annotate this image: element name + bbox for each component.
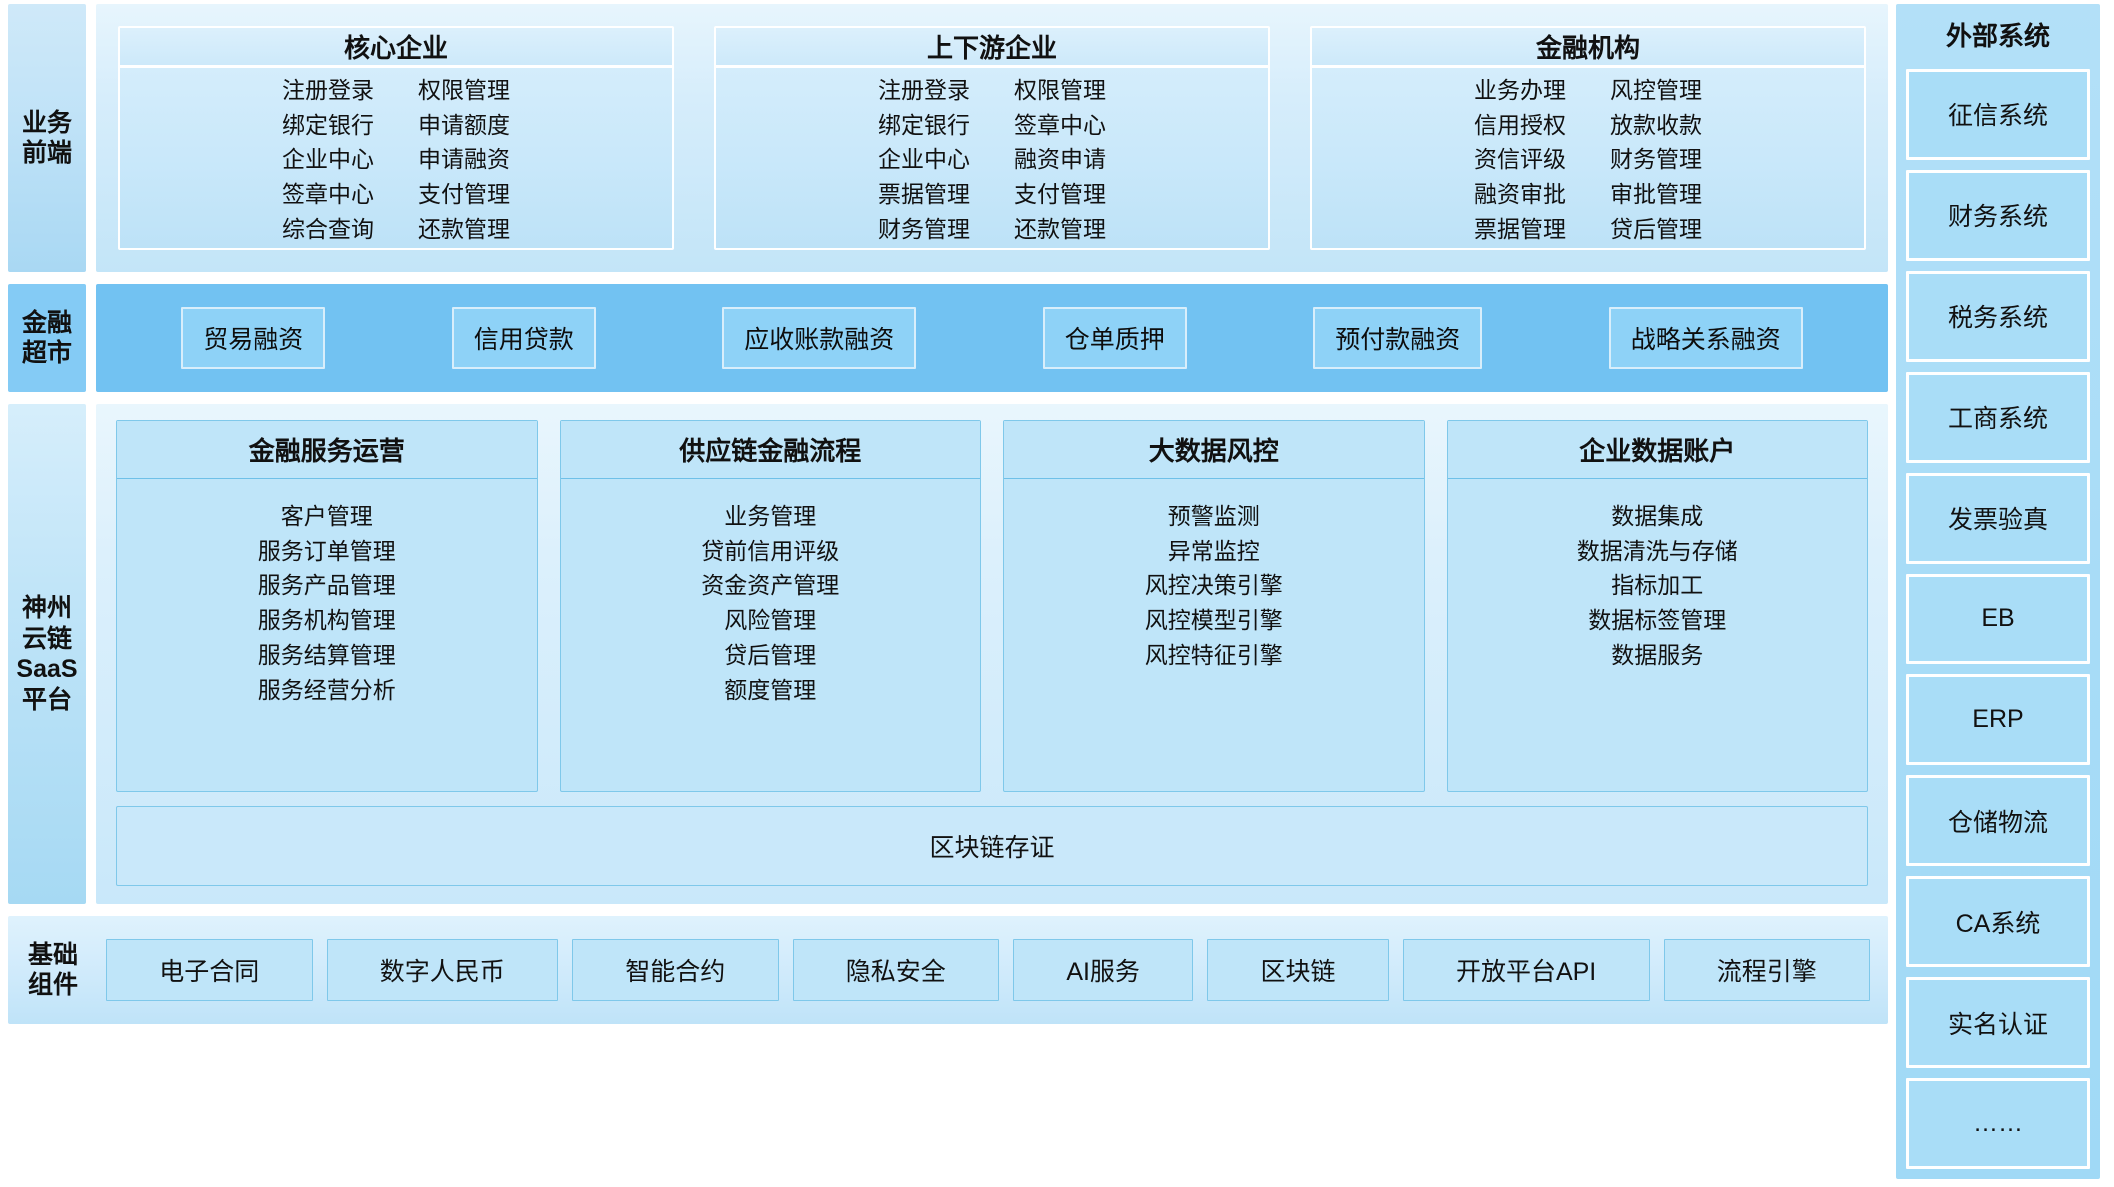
row-label-financial-marketplace: 金融 超市 — [8, 284, 86, 392]
feature-item[interactable]: 数据标签管理 — [1588, 605, 1726, 637]
card-body: 数据集成 数据清洗与存储 指标加工 数据标签管理 数据服务 — [1448, 479, 1868, 791]
feature-item[interactable]: 资金资产管理 — [701, 570, 839, 602]
feature-item[interactable]: 还款管理 — [418, 213, 510, 246]
feature-item[interactable]: 贷后管理 — [724, 640, 816, 672]
row-business-frontend: 业务 前端 核心企业 注册登录 绑定银行 企业中心 签章中心 综合查询 — [0, 4, 1888, 272]
row-body-saas-platform: 金融服务运营 客户管理 服务订单管理 服务产品管理 服务机构管理 服务结算管理 … — [96, 404, 1888, 904]
base-component-group: 电子合同 数字人民币 智能合约 隐私安全 AI服务 区块链 开放平台API 流程… — [106, 939, 1870, 1001]
feature-item[interactable]: 业务管理 — [724, 501, 816, 533]
feature-column-right: 权限管理 签章中心 融资申请 支付管理 还款管理 — [1014, 74, 1106, 245]
feature-item[interactable]: 企业中心 — [878, 143, 970, 176]
marketplace-item-trade-finance[interactable]: 贸易融资 — [181, 307, 325, 369]
row-body-base-components: 基础 组件 电子合同 数字人民币 智能合约 隐私安全 AI服务 区块链 开放平台… — [8, 916, 1888, 1024]
card-body: 注册登录 绑定银行 企业中心 票据管理 财务管理 权限管理 签章中心 融资申请 … — [716, 68, 1268, 249]
row-label-line4: 平台 — [22, 686, 72, 714]
feature-item[interactable]: 数据集成 — [1611, 501, 1703, 533]
card-body: 预警监测 异常监控 风控决策引擎 风控模型引擎 风控特征引擎 — [1004, 479, 1424, 791]
card-title: 企业数据账户 — [1448, 421, 1868, 479]
external-system-real-name-auth[interactable]: 实名认证 — [1906, 977, 2090, 1068]
external-systems-title: 外部系统 — [1946, 12, 2050, 59]
feature-item[interactable]: 贷后管理 — [1610, 213, 1702, 246]
external-system-ca[interactable]: CA系统 — [1906, 876, 2090, 967]
feature-item[interactable]: 申请额度 — [418, 109, 510, 142]
card-title: 大数据风控 — [1004, 421, 1424, 479]
row-label-line2: 前端 — [22, 139, 72, 167]
base-component-electronic-contract[interactable]: 电子合同 — [106, 939, 313, 1001]
feature-column-right: 权限管理 申请额度 申请融资 支付管理 还款管理 — [418, 74, 510, 245]
feature-item[interactable]: 放款收款 — [1610, 109, 1702, 142]
feature-item[interactable]: 服务经营分析 — [258, 675, 396, 707]
row-label-line2: 组件 — [28, 971, 78, 999]
base-component-smart-contract[interactable]: 智能合约 — [572, 939, 779, 1001]
feature-item[interactable]: 绑定银行 — [878, 109, 970, 142]
feature-item[interactable]: 预警监测 — [1168, 501, 1260, 533]
row-label-line1: 业务 — [22, 109, 72, 137]
feature-item[interactable]: 业务办理 — [1474, 74, 1566, 107]
card-title: 金融机构 — [1312, 28, 1864, 68]
card-title: 核心企业 — [120, 28, 672, 68]
row-base-components: 基础 组件 电子合同 数字人民币 智能合约 隐私安全 AI服务 区块链 开放平台… — [0, 916, 1888, 1024]
marketplace-item-strategic-relationship-finance[interactable]: 战略关系融资 — [1609, 307, 1803, 369]
feature-item[interactable]: 服务机构管理 — [258, 605, 396, 637]
row-label-saas-platform: 神州 云链 SaaS 平台 — [8, 404, 86, 904]
row-label-line1: 金融 — [22, 309, 72, 337]
feature-item[interactable]: 还款管理 — [1014, 213, 1106, 246]
row-saas-platform: 神州 云链 SaaS 平台 金融服务运营 客户管理 服务订单管理 服务产品管理 … — [0, 404, 1888, 904]
feature-column-right: 风控管理 放款收款 财务管理 审批管理 贷后管理 — [1610, 74, 1702, 245]
row-label-line1: 基础 — [28, 941, 78, 969]
feature-item[interactable]: 权限管理 — [418, 74, 510, 107]
feature-item[interactable]: 财务管理 — [1610, 143, 1702, 176]
blockchain-evidence-bar[interactable]: 区块链存证 — [116, 806, 1868, 886]
marketplace-item-prepayment-finance[interactable]: 预付款融资 — [1313, 307, 1482, 369]
feature-item[interactable]: 指标加工 — [1611, 570, 1703, 602]
feature-item[interactable]: 贷前信用评级 — [701, 536, 839, 568]
row-financial-marketplace: 金融 超市 贸易融资 信用贷款 应收账款融资 仓单质押 预付款融资 战略关系融资 — [0, 284, 1888, 392]
feature-item[interactable]: 签章中心 — [282, 178, 374, 211]
feature-item[interactable]: 异常监控 — [1168, 536, 1260, 568]
external-systems-column: 外部系统 征信系统 财务系统 税务系统 工商系统 发票验真 EB ERP 仓储物… — [1888, 0, 2114, 1187]
feature-item[interactable]: 服务产品管理 — [258, 570, 396, 602]
marketplace-item-warehouse-receipt-pledge[interactable]: 仓单质押 — [1043, 307, 1187, 369]
feature-item[interactable]: 综合查询 — [282, 213, 374, 246]
external-system-credit-reporting[interactable]: 征信系统 — [1906, 69, 2090, 160]
feature-item[interactable]: 支付管理 — [418, 178, 510, 211]
base-component-blockchain[interactable]: 区块链 — [1207, 939, 1389, 1001]
feature-item[interactable]: 数据清洗与存储 — [1577, 536, 1738, 568]
card-core-enterprise[interactable]: 核心企业 注册登录 绑定银行 企业中心 签章中心 综合查询 权限管理 申请额度 — [118, 26, 674, 250]
card-body: 注册登录 绑定银行 企业中心 签章中心 综合查询 权限管理 申请额度 申请融资 … — [120, 68, 672, 249]
row-label-line1: 神州 — [22, 594, 72, 622]
feature-item[interactable]: 额度管理 — [724, 675, 816, 707]
feature-item[interactable]: 融资审批 — [1474, 178, 1566, 211]
feature-item[interactable]: 客户管理 — [281, 501, 373, 533]
feature-item[interactable]: 信用授权 — [1474, 109, 1566, 142]
feature-item[interactable]: 票据管理 — [878, 178, 970, 211]
feature-item[interactable]: 权限管理 — [1014, 74, 1106, 107]
feature-column-left: 业务办理 信用授权 资信评级 融资审批 票据管理 — [1474, 74, 1566, 245]
feature-item[interactable]: 票据管理 — [1474, 213, 1566, 246]
feature-item[interactable]: 财务管理 — [878, 213, 970, 246]
feature-item[interactable]: 签章中心 — [1014, 109, 1106, 142]
external-system-eb[interactable]: EB — [1906, 574, 2090, 665]
feature-item[interactable]: 服务结算管理 — [258, 640, 396, 672]
row-body-financial-marketplace: 贸易融资 信用贷款 应收账款融资 仓单质押 预付款融资 战略关系融资 — [96, 284, 1888, 392]
base-component-privacy-security[interactable]: 隐私安全 — [793, 939, 1000, 1001]
feature-item[interactable]: 支付管理 — [1014, 178, 1106, 211]
card-title: 供应链金融流程 — [561, 421, 981, 479]
card-body: 客户管理 服务订单管理 服务产品管理 服务机构管理 服务结算管理 服务经营分析 — [117, 479, 537, 791]
external-system-more[interactable]: …… — [1906, 1078, 2090, 1169]
external-system-warehouse-logistics[interactable]: 仓储物流 — [1906, 775, 2090, 866]
row-label-base-components: 基础 组件 — [22, 940, 84, 1000]
base-component-open-platform-api[interactable]: 开放平台API — [1403, 939, 1650, 1001]
main-column: 业务 前端 核心企业 注册登录 绑定银行 企业中心 签章中心 综合查询 — [0, 0, 1888, 1187]
card-supply-chain-finance-process[interactable]: 供应链金融流程 业务管理 贷前信用评级 资金资产管理 风险管理 贷后管理 额度管… — [560, 420, 982, 792]
card-body: 业务管理 贷前信用评级 资金资产管理 风险管理 贷后管理 额度管理 — [561, 479, 981, 791]
base-component-ai-service[interactable]: AI服务 — [1013, 939, 1193, 1001]
feature-item[interactable]: 风控特征引擎 — [1145, 640, 1283, 672]
external-system-invoice-verification[interactable]: 发票验真 — [1906, 473, 2090, 564]
row-label-business-frontend: 业务 前端 — [8, 4, 86, 272]
feature-item[interactable]: 企业中心 — [282, 143, 374, 176]
saas-card-group: 金融服务运营 客户管理 服务订单管理 服务产品管理 服务机构管理 服务结算管理 … — [116, 420, 1868, 792]
card-enterprise-data-account[interactable]: 企业数据账户 数据集成 数据清洗与存储 指标加工 数据标签管理 数据服务 — [1447, 420, 1869, 792]
architecture-diagram: 业务 前端 核心企业 注册登录 绑定银行 企业中心 签章中心 综合查询 — [0, 0, 2114, 1187]
card-big-data-risk-control[interactable]: 大数据风控 预警监测 异常监控 风控决策引擎 风控模型引擎 风控特征引擎 — [1003, 420, 1425, 792]
row-label-line2: 超市 — [22, 339, 72, 367]
feature-item[interactable]: 风控管理 — [1610, 74, 1702, 107]
feature-column-left: 注册登录 绑定银行 企业中心 票据管理 财务管理 — [878, 74, 970, 245]
feature-item[interactable]: 融资申请 — [1014, 143, 1106, 176]
feature-item[interactable]: 风控模型引擎 — [1145, 605, 1283, 637]
base-component-process-engine[interactable]: 流程引擎 — [1664, 939, 1871, 1001]
base-component-digital-rmb[interactable]: 数字人民币 — [327, 939, 559, 1001]
feature-column-left: 注册登录 绑定银行 企业中心 签章中心 综合查询 — [282, 74, 374, 245]
card-financial-service-operations[interactable]: 金融服务运营 客户管理 服务订单管理 服务产品管理 服务机构管理 服务结算管理 … — [116, 420, 538, 792]
feature-item[interactable]: 风险管理 — [724, 605, 816, 637]
feature-item[interactable]: 注册登录 — [878, 74, 970, 107]
card-body: 业务办理 信用授权 资信评级 融资审批 票据管理 风控管理 放款收款 财务管理 … — [1312, 68, 1864, 249]
feature-item[interactable]: 绑定银行 — [282, 109, 374, 142]
feature-item[interactable]: 资信评级 — [1474, 143, 1566, 176]
feature-item[interactable]: 数据服务 — [1611, 640, 1703, 672]
card-title: 上下游企业 — [716, 28, 1268, 68]
feature-item[interactable]: 服务订单管理 — [258, 536, 396, 568]
feature-item[interactable]: 申请融资 — [418, 143, 510, 176]
external-system-erp[interactable]: ERP — [1906, 674, 2090, 765]
marketplace-item-receivables-finance[interactable]: 应收账款融资 — [722, 307, 916, 369]
card-title: 金融服务运营 — [117, 421, 537, 479]
external-system-tax[interactable]: 税务系统 — [1906, 271, 2090, 362]
marketplace-item-credit-loan[interactable]: 信用贷款 — [452, 307, 596, 369]
row-body-business-frontend: 核心企业 注册登录 绑定银行 企业中心 签章中心 综合查询 权限管理 申请额度 — [96, 4, 1888, 272]
feature-item[interactable]: 风控决策引擎 — [1145, 570, 1283, 602]
card-upstream-downstream-enterprise[interactable]: 上下游企业 注册登录 绑定银行 企业中心 票据管理 财务管理 权限管理 签章中心 — [714, 26, 1270, 250]
feature-item[interactable]: 注册登录 — [282, 74, 374, 107]
feature-item[interactable]: 审批管理 — [1610, 178, 1702, 211]
row-label-line3: SaaS — [16, 655, 77, 683]
card-financial-institution[interactable]: 金融机构 业务办理 信用授权 资信评级 融资审批 票据管理 风控管理 放款收款 — [1310, 26, 1866, 250]
external-system-finance[interactable]: 财务系统 — [1906, 170, 2090, 261]
row-label-line2: 云链 — [22, 625, 72, 653]
external-system-business-registration[interactable]: 工商系统 — [1906, 372, 2090, 463]
external-systems-panel: 外部系统 征信系统 财务系统 税务系统 工商系统 发票验真 EB ERP 仓储物… — [1896, 4, 2100, 1179]
